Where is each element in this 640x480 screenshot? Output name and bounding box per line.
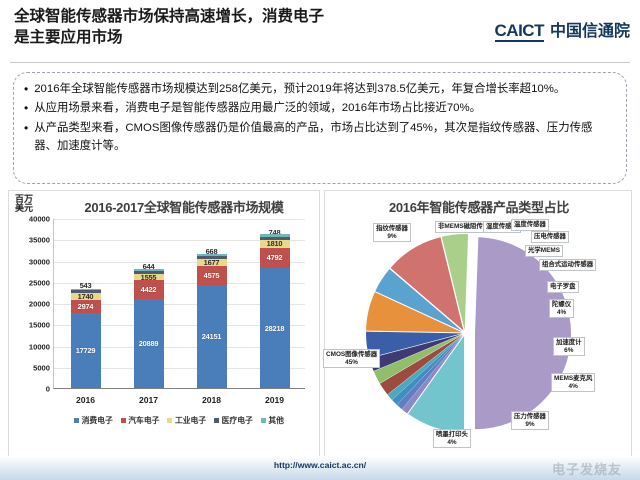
bar-segment: 20889 xyxy=(134,299,164,388)
pie-label-name: CMOS图像传感器 xyxy=(326,351,377,359)
pie-label-name: 加速度计 xyxy=(556,339,582,347)
bar-value-label: 28218 xyxy=(265,324,285,333)
pie-label-name: MEMS麦克风 xyxy=(554,375,592,383)
bar-segment: 2974 xyxy=(71,300,101,313)
pie-label-name: 压电传感器 xyxy=(534,233,566,241)
bullet-marker-icon: • xyxy=(24,99,28,117)
bar-value-label: 24151 xyxy=(202,332,222,341)
pie-slice-label: 电子罗盘 xyxy=(547,281,579,293)
slide-header: 全球智能传感器市场保持高速增长，消费电子 是主要应用市场 CAICT 中国信通院 xyxy=(0,0,640,62)
pie-slice-label: 指纹传感器9% xyxy=(373,223,411,242)
y-axis-tick: 25000 xyxy=(29,278,50,287)
bar-value-label: 1740 xyxy=(78,292,94,301)
bar-value-label: 20889 xyxy=(139,339,159,348)
pie-chart-title: 2016年智能传感器产品类型占比 xyxy=(325,197,633,216)
pie-slice-label: 组合式运动传感器 xyxy=(539,259,596,271)
legend-label: 工业电子 xyxy=(175,415,206,426)
pie-slice-label: MEMS麦克风4% xyxy=(551,373,595,392)
bar-value-label: 17729 xyxy=(76,346,96,355)
pie-chart-plot-area: CMOS图像传感器45%指纹传感器9%非MEMS磁阻传感器湿度传感器温度传感器压… xyxy=(325,215,633,457)
pie-label-percent: 6% xyxy=(556,347,582,355)
pie-slice-label: 压电传感器 xyxy=(531,231,569,243)
bullet-marker-icon: • xyxy=(24,80,28,98)
bar-segment: 28218 xyxy=(260,268,290,388)
bar-value-label: 4422 xyxy=(141,285,157,294)
gridline xyxy=(54,219,305,220)
logo-text-cn: 中国信通院 xyxy=(550,24,630,40)
caict-logo: CAICT 中国信通院 xyxy=(495,22,630,42)
pie-label-name: 组合式运动传感器 xyxy=(542,261,593,269)
bar-stack: 2088944221555644470 xyxy=(134,269,164,388)
bar-segment: 1810 xyxy=(260,240,290,248)
pie-label-percent: 45% xyxy=(326,359,377,367)
legend-item: 医疗电子 xyxy=(214,415,253,426)
key-points-box: • 2016年全球智能传感器市场规模达到258亿美元，预计2019年将达到378… xyxy=(13,72,627,184)
pie-label-name: 压力传感器 xyxy=(514,413,546,421)
bar-segment: 748 xyxy=(260,237,290,240)
bar-stack: 2415145751677668520 xyxy=(197,254,227,388)
bullet-item: • 2016年全球智能传感器市场规模达到258亿美元，预计2019年将达到378… xyxy=(24,80,614,98)
bar-value-label: 4575 xyxy=(204,271,220,280)
y-axis-tick: 15000 xyxy=(29,321,50,330)
bar-segment: 4575 xyxy=(197,266,227,285)
legend-swatch xyxy=(167,418,172,423)
bar-segment: 520 xyxy=(197,254,227,256)
x-axis-tick: 2017 xyxy=(139,395,158,405)
bar-chart-legend: 消费电子汽车电子工业电子医疗电子其他 xyxy=(39,415,319,426)
slide-footer: http://www.caict.ac.cn/ xyxy=(0,456,640,480)
footer-url[interactable]: http://www.caict.ac.cn/ xyxy=(0,460,640,470)
pie-label-percent: 4% xyxy=(554,383,592,391)
page-title: 全球智能传感器市场保持高速增长，消费电子 是主要应用市场 xyxy=(14,6,444,49)
pie-label-percent: 4% xyxy=(436,439,468,447)
bar-segment: 560 xyxy=(260,234,290,236)
y-axis-tick: 40000 xyxy=(29,215,50,224)
pie-label-percent: 9% xyxy=(514,421,546,429)
slide-page: 全球智能传感器市场保持高速增长，消费电子 是主要应用市场 CAICT 中国信通院… xyxy=(0,0,640,480)
header-divider xyxy=(10,62,630,63)
page-title-line2: 是主要应用市场 xyxy=(14,27,444,48)
bar-segment: 668 xyxy=(197,256,227,259)
page-title-line1: 全球智能传感器市场保持高速增长，消费电子 xyxy=(14,6,444,27)
pie-chart-panel: 2016年智能传感器产品类型占比 CMOS图像传感器45%指纹传感器9%非MEM… xyxy=(324,190,632,458)
legend-swatch xyxy=(74,418,79,423)
bar-segment: 430 xyxy=(71,289,101,291)
pie-svg xyxy=(325,215,633,457)
legend-swatch xyxy=(214,418,219,423)
bullet-text: 2016年全球智能传感器市场规模达到258亿美元，预计2019年将达到378.5… xyxy=(34,80,614,98)
bar-segment: 543 xyxy=(71,290,101,292)
pie-slice-label: 温度传感器 xyxy=(511,219,549,231)
bar-value-label: 4792 xyxy=(267,253,283,262)
bar-chart-plot-area: 0500010000150002000025000300003500040000… xyxy=(53,219,305,389)
pie-label-name: 电子罗盘 xyxy=(550,283,576,291)
bar-value-label: 1677 xyxy=(204,258,220,267)
bar-segment: 1677 xyxy=(197,259,227,266)
legend-label: 汽车电子 xyxy=(128,415,159,426)
bar-chart-title: 2016-2017全球智能传感器市场规模 xyxy=(53,197,315,216)
bar-chart-panel: 百万美元 2016-2017全球智能传感器市场规模 05000100001500… xyxy=(8,190,320,458)
bullet-item: • 从产品类型来看，CMOS图像传感器仍是价值最高的产品，市场占比达到了45%，… xyxy=(24,119,614,156)
legend-item: 消费电子 xyxy=(74,415,113,426)
pie-slice-label: 陀螺仪4% xyxy=(549,299,574,318)
bar-value-label: 1555 xyxy=(141,273,157,282)
y-axis-tick: 10000 xyxy=(29,342,50,351)
x-axis-tick: 2018 xyxy=(202,395,221,405)
pie-slice-label: 加速度计6% xyxy=(553,337,585,356)
pie-label-name: 温度传感器 xyxy=(514,221,546,229)
bar-segment: 4422 xyxy=(134,280,164,299)
bar-chart-yaxis-unit: 百万美元 xyxy=(15,195,41,214)
x-axis-tick: 2016 xyxy=(76,395,95,405)
legend-item: 工业电子 xyxy=(167,415,206,426)
x-axis-tick: 2019 xyxy=(265,395,284,405)
pie-label-name: 陀螺仪 xyxy=(552,301,571,309)
bullet-text: 从应用场景来看，消费电子是智能传感器应用最广泛的领域，2016年市场占比接近70… xyxy=(34,99,614,117)
bullet-text: 从产品类型来看，CMOS图像传感器仍是价值最高的产品，市场占比达到了45%，其次… xyxy=(34,119,614,156)
y-axis-tick: 0 xyxy=(46,385,50,394)
bar-segment: 1555 xyxy=(134,274,164,281)
logo-text-en: CAICT xyxy=(495,22,544,42)
bullet-marker-icon: • xyxy=(24,119,28,137)
y-axis-tick: 5000 xyxy=(33,363,50,372)
bar-stack: 1772929741740543430 xyxy=(71,289,101,388)
bar-segment: 4792 xyxy=(260,248,290,268)
bar-value-label: 2974 xyxy=(78,302,94,311)
bar-segment: 1740 xyxy=(71,293,101,300)
bar-segment: 24151 xyxy=(197,285,227,388)
bar-value-label: 1810 xyxy=(267,239,283,248)
legend-label: 其他 xyxy=(268,415,284,426)
legend-swatch xyxy=(121,418,126,423)
bar-stack: 2821847921810748560 xyxy=(260,234,290,388)
bar-segment: 17729 xyxy=(71,313,101,388)
legend-label: 医疗电子 xyxy=(222,415,253,426)
pie-label-percent: 4% xyxy=(552,309,571,317)
legend-label: 消费电子 xyxy=(82,415,113,426)
bullet-item: • 从应用场景来看，消费电子是智能传感器应用最广泛的领域，2016年市场占比接近… xyxy=(24,99,614,117)
bar-segment: 470 xyxy=(134,269,164,271)
pie-label-name: 喷墨打印头 xyxy=(436,431,468,439)
y-axis-tick: 30000 xyxy=(29,257,50,266)
legend-swatch xyxy=(261,418,266,423)
pie-slice-label: CMOS图像传感器45% xyxy=(323,349,380,368)
bar-segment: 644 xyxy=(134,271,164,274)
pie-label-name: 指纹传感器 xyxy=(376,225,408,233)
pie-label-percent: 9% xyxy=(376,233,408,241)
y-axis-tick: 20000 xyxy=(29,300,50,309)
pie-slice-label: 喷墨打印头4% xyxy=(433,429,471,448)
legend-item: 其他 xyxy=(261,415,284,426)
y-axis-tick: 35000 xyxy=(29,236,50,245)
pie-slice-label: 压力传感器9% xyxy=(511,411,549,430)
pie-slice-label: 光学MEMS xyxy=(525,245,563,257)
pie-label-name: 光学MEMS xyxy=(528,247,560,255)
legend-item: 汽车电子 xyxy=(121,415,160,426)
